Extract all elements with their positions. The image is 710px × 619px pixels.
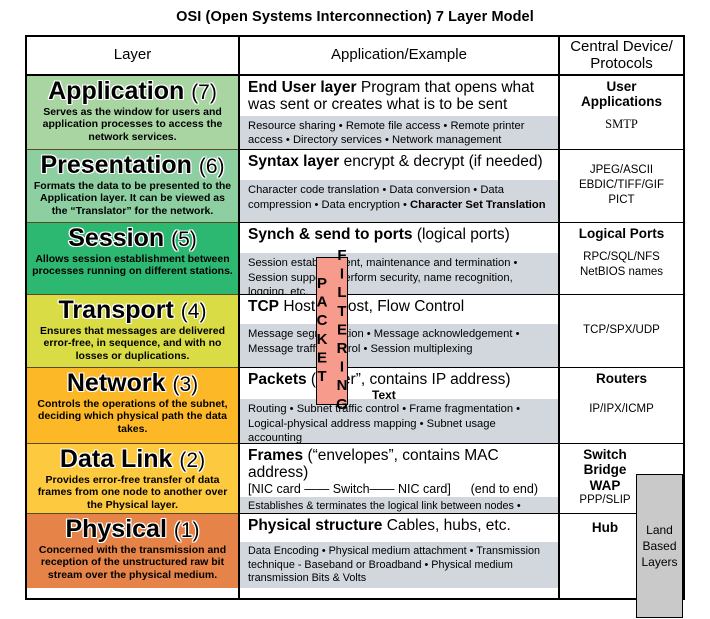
layer-number-physical: (1) xyxy=(174,519,200,542)
device-protocols-datalink: PPP/SLIP xyxy=(566,494,644,508)
device-protocols-network: IP/IPX/ICMP xyxy=(589,403,654,417)
device-title-l1-application: User xyxy=(581,79,662,94)
device-title-physical: Hub xyxy=(566,520,644,535)
device-title-l3-datalink: WAP xyxy=(566,478,644,493)
layer-physical: Physical (1) Concerned with the transmis… xyxy=(27,514,238,588)
packet-filtering-label-packet: PACKET xyxy=(315,275,330,387)
example-details-physical: Data Encoding • Physical medium attachme… xyxy=(240,542,558,588)
example-headline-bold-transport: TCP xyxy=(248,298,279,315)
layer-desc-application: Serves as the window for users and appli… xyxy=(32,106,233,143)
layer-name-application: Application xyxy=(48,77,184,105)
example-headline-bold-application: End User layer xyxy=(248,79,357,96)
header-central-device-line1: Central Device/ xyxy=(570,39,673,56)
layer-datalink: Data Link (2) Provides error-free transf… xyxy=(27,444,238,514)
device-protocols-application: SMTP xyxy=(605,117,638,132)
device-network: Routers IP/IPX/ICMP xyxy=(560,368,683,444)
layer-presentation: Presentation (6) Formats the data to be … xyxy=(27,150,238,223)
packet-filtering-band: PACKET FILTERING xyxy=(316,257,348,405)
device-title-network: Routers xyxy=(596,371,647,386)
layer-name-presentation: Presentation xyxy=(40,151,191,179)
layer-name-session: Session xyxy=(68,224,164,252)
example-subline-right-datalink: (end to end) xyxy=(471,482,552,496)
example-headline-rest-physical: Cables, hubs, etc. xyxy=(387,517,511,534)
device-session: Logical Ports RPC/SQL/NFS NetBIOS names xyxy=(560,223,683,295)
layer-desc-session: Allows session establishment between pro… xyxy=(32,253,233,278)
land-based-label-l2: Based xyxy=(641,538,677,554)
land-based-layers-band: Land Based Layers xyxy=(636,474,683,618)
device-protocols-l1-session: RPC/SQL/NFS xyxy=(583,251,660,265)
device-transport: TCP/SPX/UDP xyxy=(560,295,683,368)
layer-column: Application (7) Serves as the window for… xyxy=(27,76,240,598)
layer-name-datalink: Data Link xyxy=(60,445,173,473)
table-body: Application (7) Serves as the window for… xyxy=(27,76,683,598)
layer-number-presentation: (6) xyxy=(199,155,225,178)
example-headline-bold-presentation: Syntax layer xyxy=(248,153,339,170)
example-headline-rest-presentation: encrypt & decrypt (if needed) xyxy=(344,153,543,170)
example-headline-rest-transport: Host to Host, Flow Control xyxy=(283,298,464,315)
header-central-device: Central Device/ Protocols xyxy=(560,37,683,74)
layer-number-session: (5) xyxy=(171,228,197,251)
example-headline-bold-network: Packets xyxy=(248,371,307,388)
example-details-bold-presentation: Character Set Translation xyxy=(410,199,546,211)
layer-application: Application (7) Serves as the window for… xyxy=(27,76,238,150)
device-presentation: JPEG/ASCII EBDIC/TIFF/GIF PICT xyxy=(560,150,683,223)
layer-number-transport: (4) xyxy=(181,300,207,323)
layer-number-datalink: (2) xyxy=(179,449,205,472)
layer-number-network: (3) xyxy=(172,373,198,396)
layer-name-physical: Physical xyxy=(65,515,166,543)
land-based-label-l1: Land xyxy=(641,522,677,538)
layer-network: Network (3) Controls the operations of t… xyxy=(27,368,238,444)
example-details-transport: Message segmentation • Message acknowled… xyxy=(240,324,558,367)
layer-number-application: (7) xyxy=(191,81,217,104)
example-details-application: Resource sharing • Remote file access • … xyxy=(240,116,558,150)
example-datalink: Frames (“envelopes”, contains MAC addres… xyxy=(240,444,558,514)
device-protocols-l1-presentation: JPEG/ASCII xyxy=(590,164,653,178)
example-physical: Physical structure Cables, hubs, etc. Da… xyxy=(240,514,558,588)
example-headline-bold-physical: Physical structure xyxy=(248,517,382,534)
example-transport: TCP Host to Host, Flow Control Message s… xyxy=(240,295,558,368)
example-presentation: Syntax layer encrypt & decrypt (if neede… xyxy=(240,150,558,223)
example-details-presentation: Character code translation • Data conver… xyxy=(240,180,558,222)
device-title-l2-application: Applications xyxy=(581,94,662,109)
page-title: OSI (Open Systems Interconnection) 7 Lay… xyxy=(0,9,710,25)
layer-session: Session (5) Allows session establishment… xyxy=(27,223,238,295)
application-example-column: End User layer Program that opens what w… xyxy=(240,76,560,598)
layer-transport: Transport (4) Ensures that messages are … xyxy=(27,295,238,368)
layer-desc-presentation: Formats the data to be presented to the … xyxy=(32,180,233,217)
example-details-network: Routing • Subnet traffic control • Frame… xyxy=(240,399,558,444)
device-title-l2-datalink: Bridge xyxy=(566,462,644,477)
header-application: Application/Example xyxy=(240,37,560,74)
packet-filtering-label-filtering: FILTERING xyxy=(335,247,350,414)
osi-table: Layer Application/Example Central Device… xyxy=(25,35,685,600)
layer-name-network: Network xyxy=(67,369,166,397)
text-artifact-overlay: Text xyxy=(372,388,396,402)
example-subline-left-datalink: [NIC card —— Switch—— NIC card] xyxy=(248,482,451,496)
device-protocols-l2-session: NetBIOS names xyxy=(580,266,663,280)
example-details-session: Session establishment, maintenance and t… xyxy=(240,253,558,295)
layer-desc-datalink: Provides error-free transfer of data fra… xyxy=(32,474,233,511)
example-headline-rest-session: (logical ports) xyxy=(417,226,510,243)
device-title-session: Logical Ports xyxy=(579,226,665,241)
example-headline-bold-session: Synch & send to ports xyxy=(248,226,413,243)
land-based-label-l3: Layers xyxy=(641,554,677,570)
device-protocols-l2-presentation: EBDIC/TIFF/GIF xyxy=(579,179,664,193)
table-header-row: Layer Application/Example Central Device… xyxy=(27,37,683,76)
example-network: Packets (“letter”, contains IP address) … xyxy=(240,368,558,444)
layer-desc-transport: Ensures that messages are delivered erro… xyxy=(32,325,233,362)
device-protocols-transport: TCP/SPX/UDP xyxy=(583,324,660,338)
example-subline-datalink: [NIC card —— Switch—— NIC card] (end to … xyxy=(240,482,558,497)
osi-model-diagram: OSI (Open Systems Interconnection) 7 Lay… xyxy=(0,0,710,619)
layer-desc-network: Controls the operations of the subnet, d… xyxy=(32,398,233,435)
device-title-l1-datalink: Switch xyxy=(566,447,644,462)
layer-desc-physical: Concerned with the transmission and rece… xyxy=(32,544,233,581)
example-session: Synch & send to ports (logical ports) Se… xyxy=(240,223,558,295)
layer-name-transport: Transport xyxy=(59,296,174,324)
device-protocols-l3-presentation: PICT xyxy=(608,194,634,208)
device-application: User Applications SMTP xyxy=(560,76,683,150)
example-application: End User layer Program that opens what w… xyxy=(240,76,558,150)
header-central-device-line2: Protocols xyxy=(570,56,673,73)
example-details-datalink: Establishes & terminates the logical lin… xyxy=(240,497,558,514)
example-headline-bold-datalink: Frames xyxy=(248,447,303,464)
header-layer: Layer xyxy=(27,37,240,74)
